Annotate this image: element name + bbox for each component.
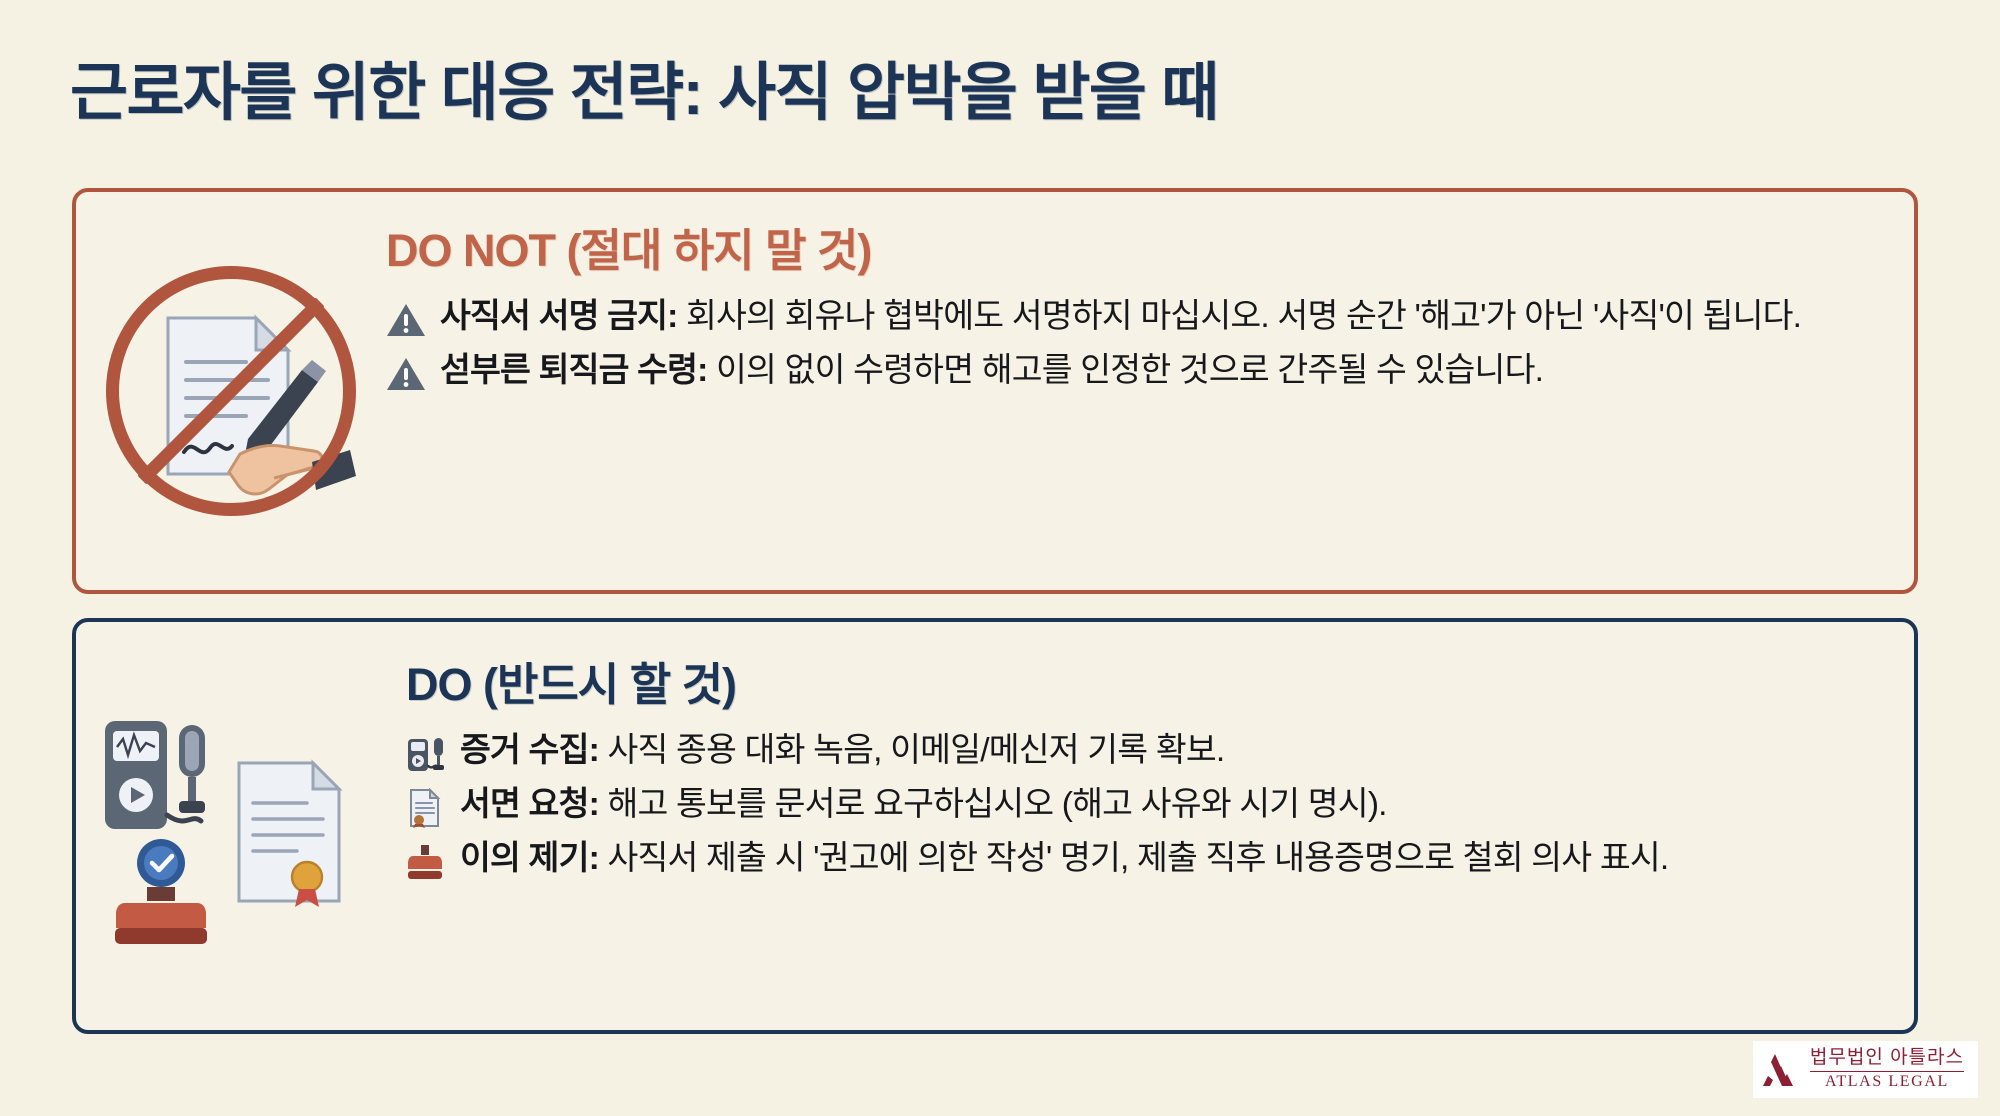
do-not-heading: DO NOT (절대 하지 말 것) — [386, 214, 1868, 279]
do-bullet-3-body: 사직서 제출 시 '권고에 의한 작성' 명기, 제출 직후 내용증명으로 철회… — [599, 840, 1668, 877]
prohibition-sign-icon — [106, 266, 356, 516]
do-heading: DO (반드시 할 것) — [406, 648, 1868, 713]
do-not-bullet-1: 사직서 서명 금지: 회사의 회유나 협박에도 서명하지 마십시오. 서명 순간… — [386, 295, 1868, 341]
do-bullet-3-text: 이의 제기: 사직서 제출 시 '권고에 의한 작성' 명기, 제출 직후 내용… — [460, 837, 1668, 881]
do-not-bullet-1-label: 사직서 서명 금지: — [440, 298, 678, 335]
certified-document-icon — [406, 783, 460, 829]
do-not-bullet-1-text: 사직서 서명 금지: 회사의 회유나 협박에도 서명하지 마십시오. 서명 순간… — [440, 295, 1801, 339]
do-not-illustration — [76, 192, 386, 590]
atlas-mountain-mark — [1761, 1052, 1801, 1088]
page-title: 근로자를 위한 대응 전략: 사직 압박을 받을 때 — [70, 42, 1218, 133]
do-bullet-2-text: 서면 요청: 해고 통보를 문서로 요구하십시오 (해고 사유와 시기 명시). — [460, 783, 1387, 827]
do-bullet-1-text: 증거 수집: 사직 종용 대화 녹음, 이메일/메신저 기록 확보. — [460, 729, 1224, 773]
do-illustration — [76, 622, 406, 1030]
do-bullet-1-label: 증거 수집: — [460, 732, 599, 769]
do-not-bullet-2-body: 이의 없이 수령하면 해고를 인정한 것으로 간주될 수 있습니다. — [708, 352, 1544, 389]
do-bullet-2-body: 해고 통보를 문서로 요구하십시오 (해고 사유와 시기 명시). — [599, 786, 1387, 823]
do-bullet-3-label: 이의 제기: — [460, 840, 599, 877]
logo-divider — [1810, 1071, 1964, 1072]
do-not-card: DO NOT (절대 하지 말 것) 사직서 서명 금지: 회사의 회유나 협박… — [72, 188, 1918, 594]
warning-triangle-icon — [386, 349, 440, 395]
evidence-collection-icon — [91, 711, 391, 951]
do-not-bullet-2: 섣부른 퇴직금 수령: 이의 없이 수령하면 해고를 인정한 것으로 간주될 수… — [386, 349, 1868, 395]
do-not-bullet-2-label: 섣부른 퇴직금 수령: — [440, 352, 708, 389]
do-bullet-2-label: 서면 요청: — [460, 786, 599, 823]
do-bullet-1-body: 사직 종용 대화 녹음, 이메일/메신저 기록 확보. — [599, 732, 1224, 769]
do-bullet-2: 서면 요청: 해고 통보를 문서로 요구하십시오 (해고 사유와 시기 명시). — [406, 783, 1868, 829]
logo-english-name: ATLAS LEGAL — [1825, 1073, 1949, 1091]
do-not-bullet-1-body: 회사의 회유나 협박에도 서명하지 마십시오. 서명 순간 '해고'가 아닌 '… — [678, 298, 1802, 335]
voice-recorder-microphone-icon — [406, 729, 460, 775]
firm-logo: 법무법인 아틀라스 ATLAS LEGAL — [1753, 1041, 1978, 1098]
do-not-bullet-2-text: 섣부른 퇴직금 수령: 이의 없이 수령하면 해고를 인정한 것으로 간주될 수… — [440, 349, 1543, 393]
do-bullet-1: 증거 수집: 사직 종용 대화 녹음, 이메일/메신저 기록 확보. — [406, 729, 1868, 775]
logo-korean-name: 법무법인 아틀라스 — [1810, 1048, 1964, 1069]
do-card: DO (반드시 할 것) 증거 수집: 사직 종용 대화 — [72, 618, 1918, 1034]
do-bullet-3: 이의 제기: 사직서 제출 시 '권고에 의한 작성' 명기, 제출 직후 내용… — [406, 837, 1868, 883]
rubber-stamp-icon — [406, 837, 460, 883]
warning-triangle-icon — [386, 295, 440, 341]
